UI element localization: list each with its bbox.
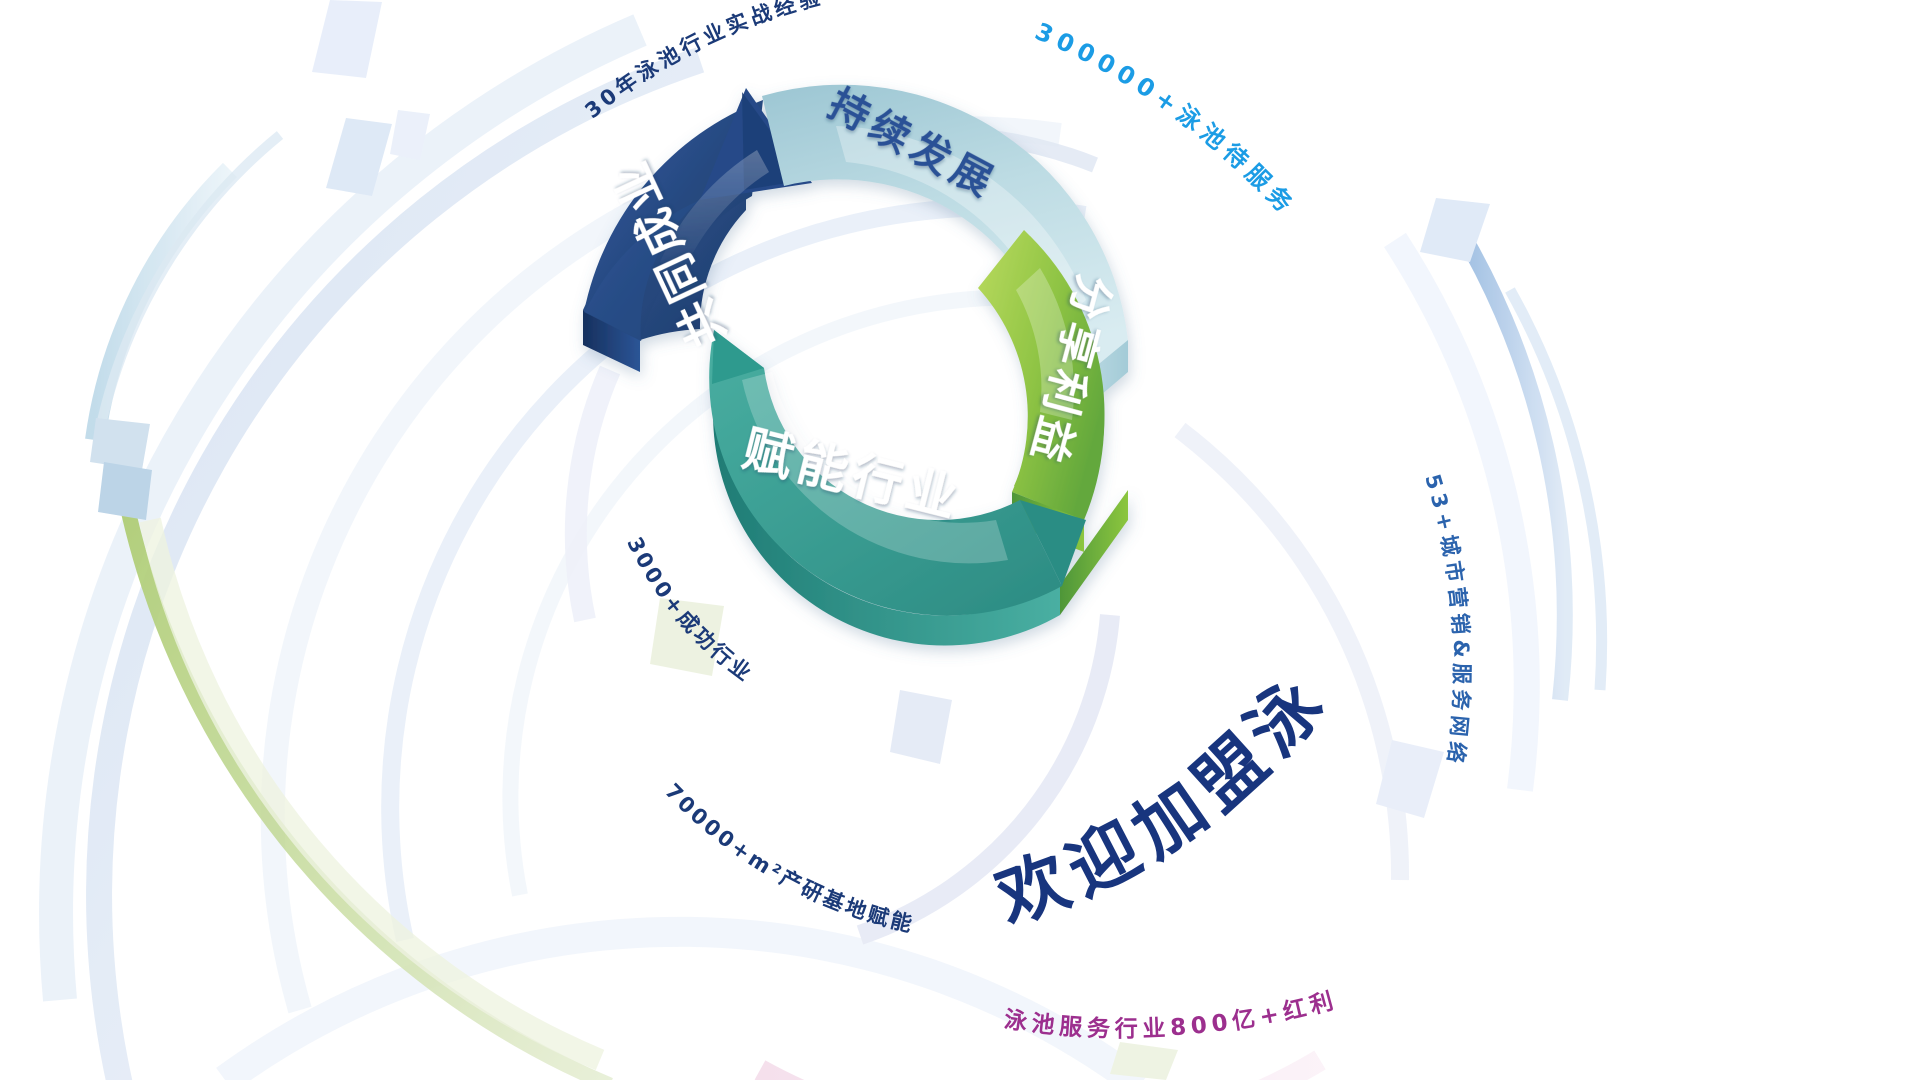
arc-market: 泳池服务行业800亿+红利 [1002, 987, 1340, 1043]
infographic-canvas: 共同成业 持续发展 分享利益 赋能行业 30年泳池行业实战经验 300000+泳… [0, 0, 1920, 1080]
arc-base: 70000+m²产研基地赋能 [660, 779, 917, 937]
arc-pools: 300000+泳池待服务 [1031, 17, 1302, 222]
